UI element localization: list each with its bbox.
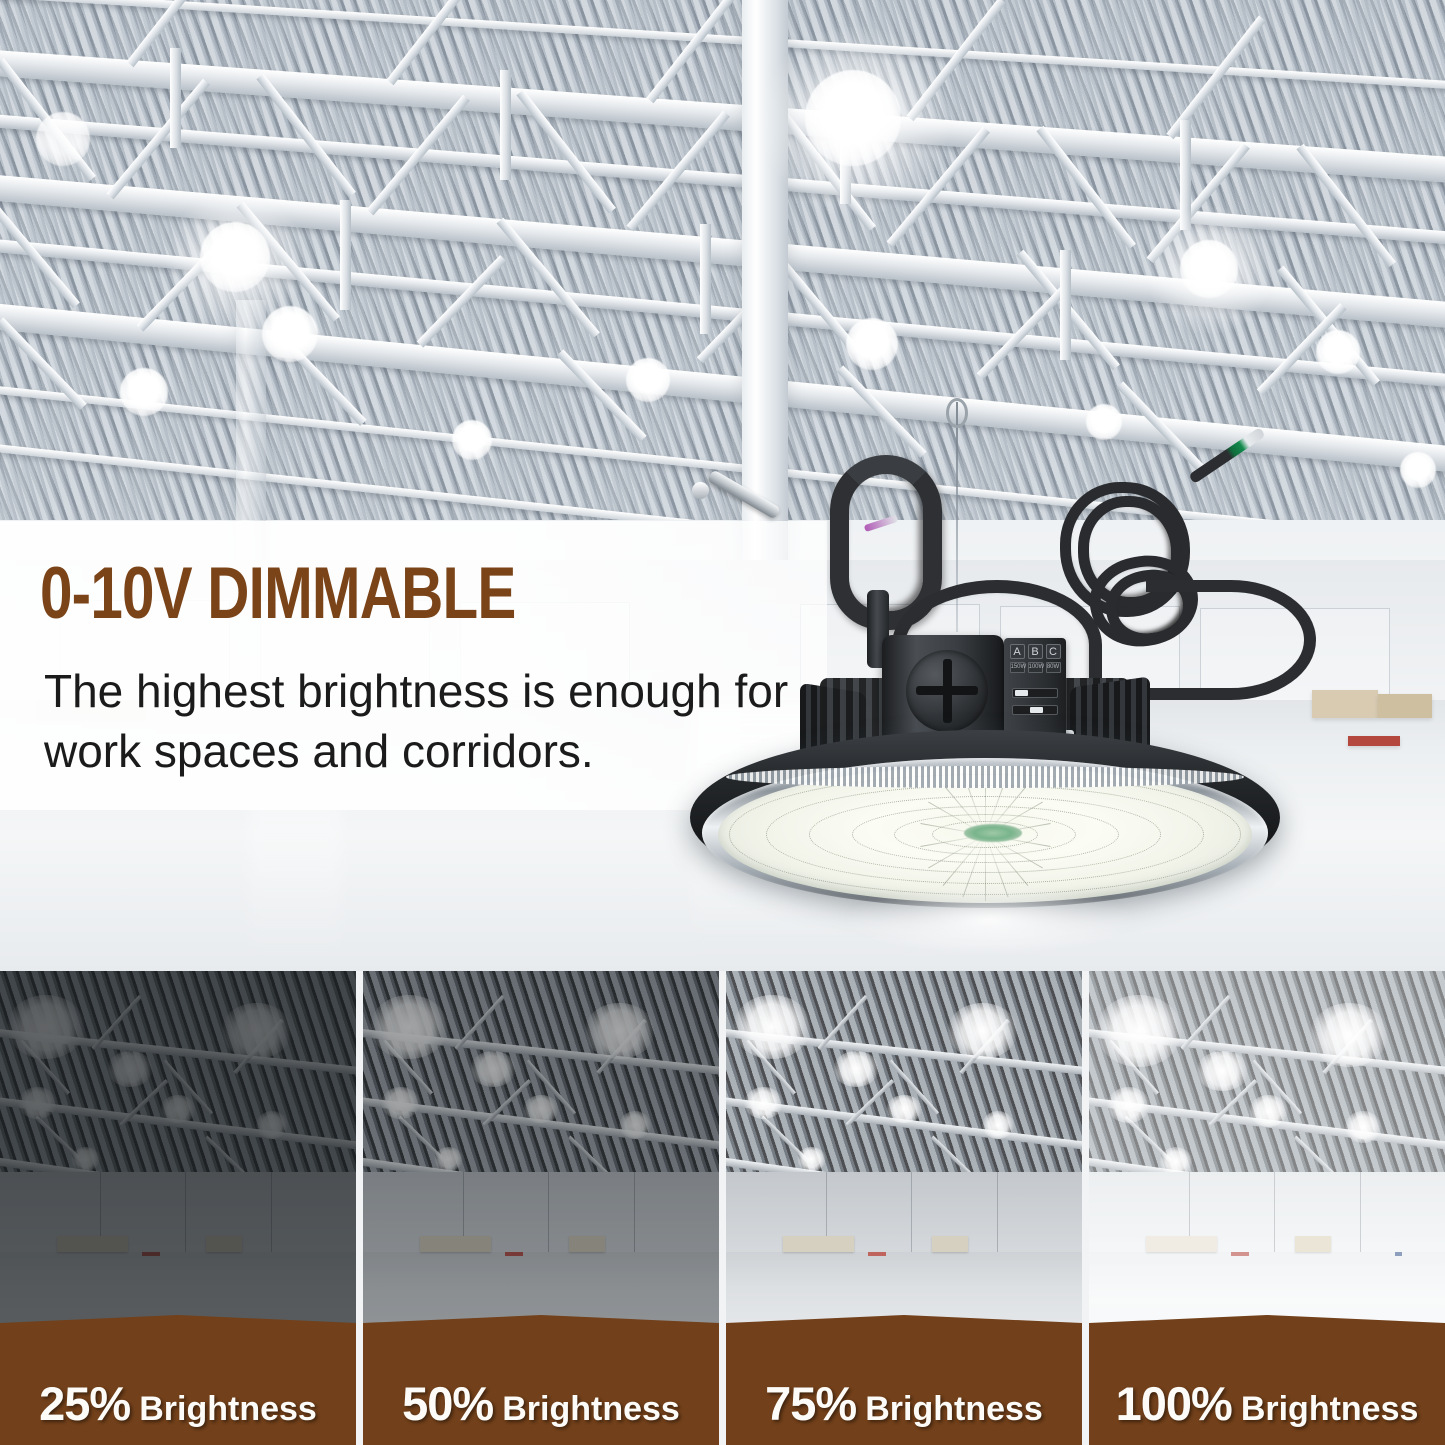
selector-wattage-b: 100W: [1028, 662, 1043, 673]
floor-marker: [1348, 736, 1400, 746]
brightness-caption: 25%Brightness: [0, 1376, 356, 1431]
brightness-caption: 100%Brightness: [1089, 1376, 1445, 1431]
brightness-word: Brightness: [139, 1390, 317, 1428]
brightness-caption: 75%Brightness: [726, 1376, 1082, 1431]
selector-label-c: C: [1046, 644, 1061, 659]
brightness-panel: 50%Brightness: [363, 971, 719, 1445]
warehouse-thumbnail: [726, 971, 1082, 1372]
selector-label-a: A: [1010, 644, 1025, 659]
suspension-ring: [946, 398, 968, 428]
truss-post: [500, 70, 511, 180]
carabiner-clip-end: [692, 482, 709, 499]
brightness-caption: 50%Brightness: [363, 1376, 719, 1431]
product-image-high-bay-light: A B C 150W 100W 80W: [660, 430, 1300, 950]
ceiling-lamp: [120, 368, 168, 416]
ceiling-lamp: [626, 358, 670, 402]
selector-wattage-c: 80W: [1046, 662, 1061, 673]
selector-wattage-a: 150W: [1010, 662, 1025, 673]
screw-slot-vertical-icon: [943, 659, 952, 723]
selector-label-b: B: [1028, 644, 1043, 659]
caption-chevron: [726, 1315, 1082, 1337]
ceiling-lamp: [262, 306, 318, 362]
page-title: 0-10V DIMMABLE: [40, 557, 516, 631]
ceiling-lamp-glow: [760, 26, 950, 216]
ceiling-lamp: [36, 112, 90, 166]
power-cable-tail: [1146, 580, 1316, 700]
truss-post: [700, 224, 711, 334]
brightness-percent: 100%: [1116, 1377, 1232, 1430]
ceiling-lamp: [846, 318, 898, 370]
brightness-percent: 25%: [39, 1377, 130, 1430]
brightness-panel: 100%Brightness: [1089, 971, 1445, 1445]
wire-lead-icon: [1188, 427, 1265, 484]
stacked-goods: [1378, 694, 1432, 718]
dip-switch-row[interactable]: [1012, 688, 1058, 698]
hero-warehouse-scene: 0-10V DIMMABLE The highest brightness is…: [0, 0, 1445, 971]
caption-chevron: [363, 1315, 719, 1337]
brightness-word: Brightness: [865, 1390, 1043, 1428]
warehouse-thumbnail: [363, 971, 719, 1372]
caption-chevron: [0, 1315, 356, 1337]
caption-chevron: [1089, 1315, 1445, 1337]
brightness-panel: 25%Brightness: [0, 971, 356, 1445]
warehouse-thumbnail: [0, 971, 356, 1372]
warehouse-thumbnail: [1089, 971, 1445, 1372]
ceiling-lamp: [452, 420, 492, 460]
ceiling-lamp-glow: [1146, 206, 1274, 334]
truss-post: [170, 48, 181, 148]
led-edge-band: [726, 766, 1244, 788]
carabiner-clip-icon: [707, 469, 781, 519]
truss-post: [1060, 250, 1071, 360]
light-glow: [840, 885, 1140, 955]
brightness-percent: 50%: [402, 1377, 493, 1430]
brightness-comparison-strip: 25%Brightness: [0, 971, 1445, 1445]
dip-switch-row[interactable]: [1012, 705, 1058, 715]
ceiling-lamp: [1400, 452, 1436, 488]
led-center-module: [964, 824, 1022, 842]
selector-labels: A B C: [1008, 644, 1062, 659]
selector-wattages: 150W 100W 80W: [1008, 662, 1062, 673]
brightness-panel: 75%Brightness: [726, 971, 1082, 1445]
brightness-word: Brightness: [502, 1390, 680, 1428]
truss-post: [340, 200, 351, 310]
stacked-goods: [1312, 690, 1378, 718]
brightness-percent: 75%: [765, 1377, 856, 1430]
brightness-word: Brightness: [1241, 1390, 1419, 1428]
product-marketing-image: 0-10V DIMMABLE The highest brightness is…: [0, 0, 1445, 1445]
ceiling-lamp: [1316, 330, 1360, 374]
